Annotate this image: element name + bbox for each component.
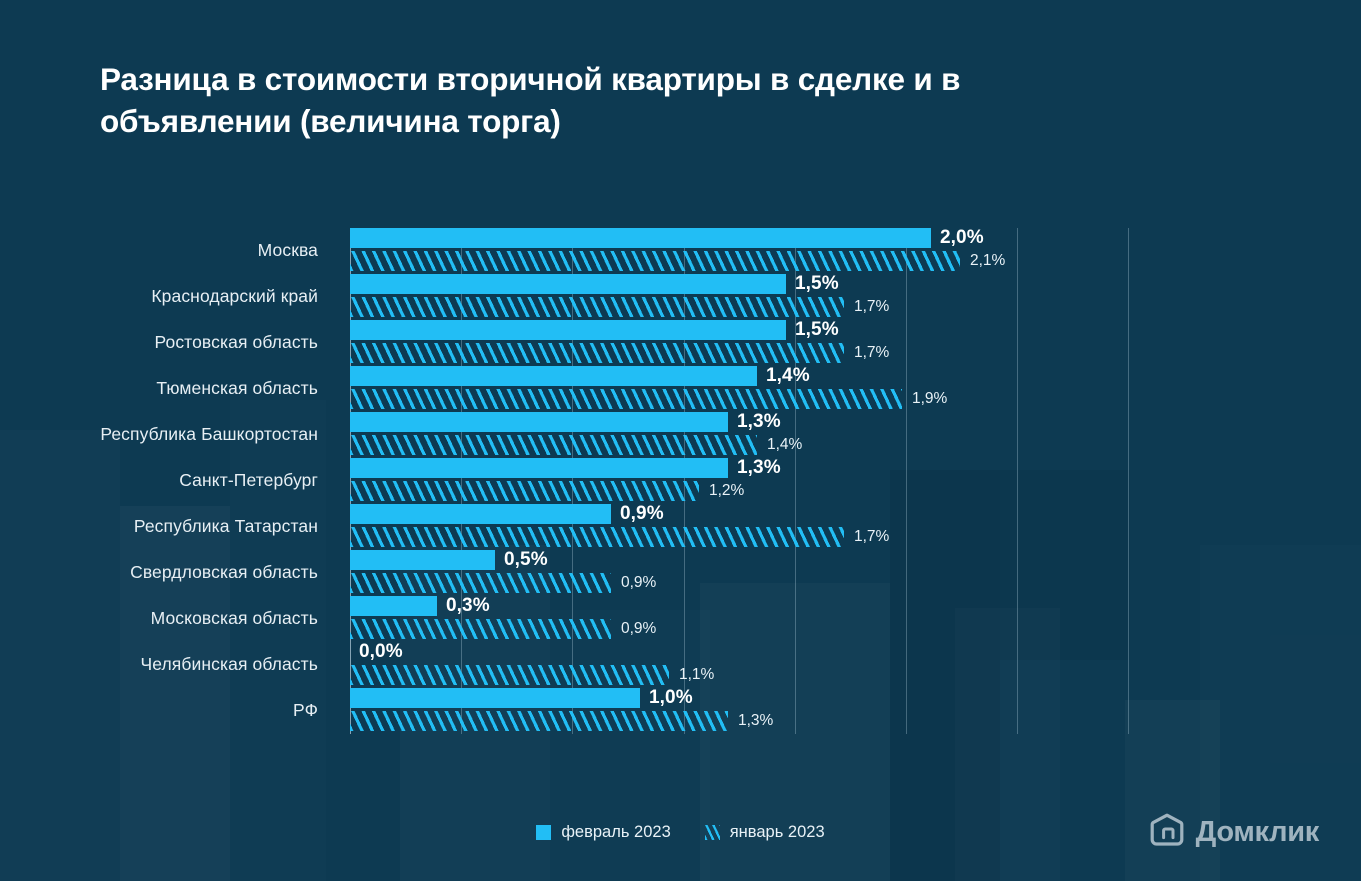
bar-row-previous[interactable]: 1,2% — [350, 481, 744, 501]
bar-previous[interactable] — [350, 527, 844, 547]
house-icon — [1149, 812, 1185, 853]
bar-value-label: 1,7% — [854, 344, 889, 362]
bar-value-label: 1,3% — [737, 457, 781, 479]
bar-previous[interactable] — [350, 435, 757, 455]
bar-row-current[interactable]: 1,3% — [350, 458, 781, 478]
legend-swatch-hatched-icon — [705, 825, 720, 840]
category-label: Республика Башкортостан — [100, 412, 318, 457]
bar-value-label: 1,3% — [738, 712, 773, 730]
category-label: Краснодарский край — [151, 274, 318, 319]
bar-value-label: 1,7% — [854, 298, 889, 316]
infographic-page: Разница в стоимости вторичной квартиры в… — [0, 0, 1361, 881]
bar-previous[interactable] — [350, 711, 728, 731]
category-label: Ростовская область — [155, 320, 319, 365]
bar-current[interactable] — [350, 412, 728, 432]
bar-value-label: 0,9% — [620, 503, 664, 525]
legend-label-current: февраль 2023 — [561, 823, 670, 842]
bar-row-previous[interactable]: 0,9% — [350, 619, 656, 639]
bar-value-label: 1,7% — [854, 528, 889, 546]
bar-row-current[interactable]: 1,3% — [350, 412, 781, 432]
bar-group: 0,0%1,1% — [350, 642, 1140, 687]
bar-previous[interactable] — [350, 481, 699, 501]
bar-row-current[interactable]: 1,0% — [350, 688, 693, 708]
bar-row-current[interactable]: 2,0% — [350, 228, 984, 248]
bar-group: 1,5%1,7% — [350, 274, 1140, 319]
bar-previous[interactable] — [350, 251, 960, 271]
legend-item-previous[interactable]: январь 2023 — [705, 823, 825, 842]
bar-current[interactable] — [350, 458, 728, 478]
bar-row-previous[interactable]: 1,7% — [350, 297, 889, 317]
bar-row-previous[interactable]: 0,9% — [350, 573, 656, 593]
bar-value-label: 2,0% — [940, 227, 984, 249]
legend-item-current[interactable]: февраль 2023 — [536, 823, 670, 842]
category-label: РФ — [293, 688, 318, 733]
category-label: Челябинская область — [140, 642, 318, 687]
bar-group: 1,0%1,3% — [350, 688, 1140, 733]
category-label: Санкт-Петербург — [179, 458, 318, 503]
bar-group: 0,5%0,9% — [350, 550, 1140, 595]
bar-row-current[interactable]: 1,5% — [350, 320, 839, 340]
domclick-logo[interactable]: Домклик — [1149, 812, 1319, 853]
bar-group: 0,9%1,7% — [350, 504, 1140, 549]
bar-row-previous[interactable]: 1,3% — [350, 711, 773, 731]
bar-group: 0,3%0,9% — [350, 596, 1140, 641]
bar-value-label: 1,2% — [709, 482, 744, 500]
bar-current[interactable] — [350, 504, 611, 524]
bar-group: 1,3%1,2% — [350, 458, 1140, 503]
bar-row-previous[interactable]: 1,4% — [350, 435, 802, 455]
bar-value-label: 0,3% — [446, 595, 490, 617]
bar-group: 1,4%1,9% — [350, 366, 1140, 411]
bar-value-label: 0,0% — [359, 641, 403, 663]
category-label: Республика Татарстан — [134, 504, 318, 549]
bar-current[interactable] — [350, 366, 757, 386]
bar-previous[interactable] — [350, 665, 669, 685]
category-label: Московская область — [151, 596, 318, 641]
bar-row-current[interactable]: 1,4% — [350, 366, 810, 386]
bar-row-current[interactable]: 0,5% — [350, 550, 548, 570]
bar-group: 1,3%1,4% — [350, 412, 1140, 457]
bar-value-label: 2,1% — [970, 252, 1005, 270]
category-label: Москва — [258, 228, 318, 273]
bar-row-current[interactable]: 0,0% — [350, 642, 403, 662]
bar-value-label: 0,5% — [504, 549, 548, 571]
bar-value-label: 0,9% — [621, 620, 656, 638]
page-title: Разница в стоимости вторичной квартиры в… — [100, 58, 1130, 142]
bar-value-label: 1,4% — [767, 436, 802, 454]
bar-value-label: 1,9% — [912, 390, 947, 408]
bar-current[interactable] — [350, 274, 786, 294]
bar-group: 2,0%2,1% — [350, 228, 1140, 273]
bar-current[interactable] — [350, 688, 640, 708]
bar-previous[interactable] — [350, 619, 611, 639]
bar-previous[interactable] — [350, 343, 844, 363]
bar-previous[interactable] — [350, 573, 611, 593]
bar-value-label: 0,9% — [621, 574, 656, 592]
bar-row-previous[interactable]: 2,1% — [350, 251, 1005, 271]
bar-row-previous[interactable]: 1,1% — [350, 665, 714, 685]
bar-row-current[interactable]: 1,5% — [350, 274, 839, 294]
bar-row-current[interactable]: 0,3% — [350, 596, 490, 616]
bar-current[interactable] — [350, 550, 495, 570]
bar-previous[interactable] — [350, 297, 844, 317]
logo-text: Домклик — [1196, 816, 1319, 849]
bar-current[interactable] — [350, 596, 437, 616]
bar-current[interactable] — [350, 320, 786, 340]
bar-row-current[interactable]: 0,9% — [350, 504, 664, 524]
bar-value-label: 1,3% — [737, 411, 781, 433]
bar-series-container: 2,0%2,1%1,5%1,7%1,5%1,7%1,4%1,9%1,3%1,4%… — [350, 228, 1140, 734]
bar-group: 1,5%1,7% — [350, 320, 1140, 365]
bar-current[interactable] — [350, 228, 931, 248]
legend-label-previous: январь 2023 — [730, 823, 825, 842]
chart-plot-area: 2,0%2,1%1,5%1,7%1,5%1,7%1,4%1,9%1,3%1,4%… — [350, 228, 1140, 734]
bar-value-label: 1,5% — [795, 273, 839, 295]
bar-value-label: 1,5% — [795, 319, 839, 341]
category-label: Тюменская область — [156, 366, 318, 411]
bar-row-previous[interactable]: 1,7% — [350, 343, 889, 363]
legend-swatch-solid-icon — [536, 825, 551, 840]
bar-value-label: 1,1% — [679, 666, 714, 684]
bar-row-previous[interactable]: 1,7% — [350, 527, 889, 547]
bar-row-previous[interactable]: 1,9% — [350, 389, 947, 409]
category-axis: МоскваКраснодарский крайРостовская облас… — [0, 228, 330, 734]
bar-value-label: 1,4% — [766, 365, 810, 387]
bar-previous[interactable] — [350, 389, 902, 409]
category-label: Свердловская область — [130, 550, 318, 595]
bar-value-label: 1,0% — [649, 687, 693, 709]
